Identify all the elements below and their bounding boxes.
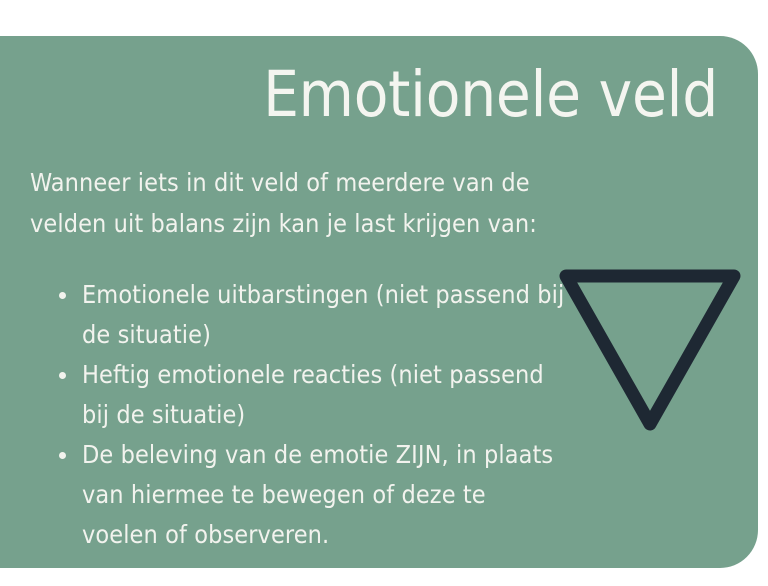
slide-canvas: Emotionele veld Wanneer iets in dit veld… [0, 0, 768, 586]
intro-paragraph: Wanneer iets in dit veld of meerdere van… [30, 162, 610, 244]
bullet-dot-icon [59, 292, 66, 299]
content-card: Emotionele veld Wanneer iets in dit veld… [0, 36, 758, 568]
list-item-label: Emotionele uitbarstingen (niet passend b… [82, 280, 564, 349]
bullet-dot-icon [59, 452, 66, 459]
downward-triangle-water-element-icon [552, 258, 748, 438]
page-title: Emotionele veld [0, 58, 718, 132]
bullet-dot-icon [59, 372, 66, 379]
triangle-outline [566, 276, 734, 424]
list-item: Emotionele uitbarstingen (niet passend b… [52, 275, 568, 355]
list-item-label: Heftig emotionele reacties (niet passend… [82, 360, 544, 429]
card-inner: Emotionele veld Wanneer iets in dit veld… [0, 36, 758, 568]
list-item: Heftig emotionele reacties (niet passend… [52, 355, 568, 435]
symptom-list: Emotionele uitbarstingen (niet passend b… [52, 275, 568, 555]
list-item-label: De beleving van de emotie ZIJN, in plaat… [82, 440, 553, 549]
list-item: De beleving van de emotie ZIJN, in plaat… [52, 435, 568, 555]
